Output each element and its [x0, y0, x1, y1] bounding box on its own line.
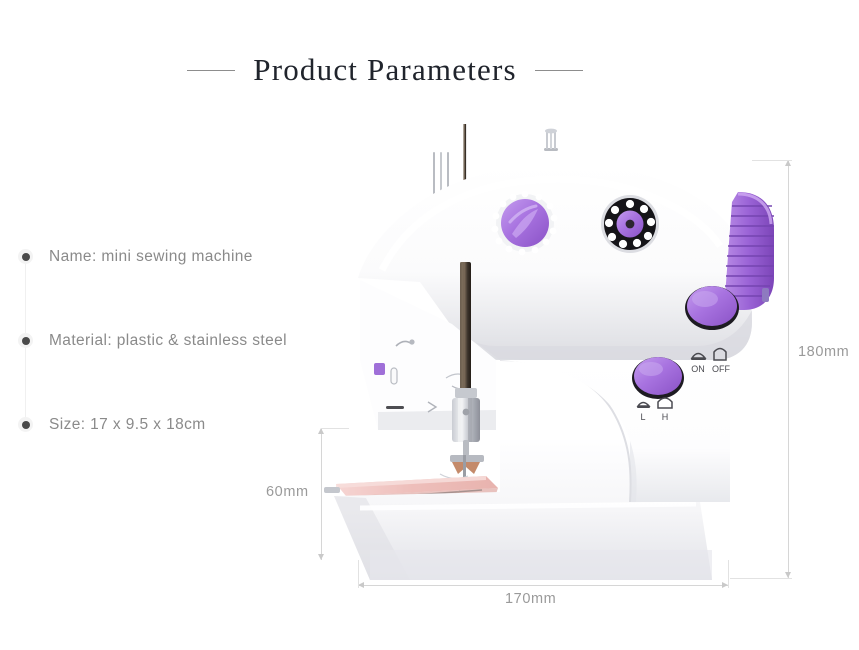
dimension-label-height-total: 180mm: [798, 344, 849, 360]
list-item: Material: plastic & stainless steel: [18, 332, 348, 416]
dimension-tick-top-right: [752, 160, 792, 161]
title-rule-right: [535, 70, 583, 71]
svg-text:H: H: [662, 412, 669, 422]
speed-button[interactable]: [632, 357, 684, 399]
bullet-dot-icon: [18, 417, 33, 432]
list-item: Name: mini sewing machine: [18, 248, 348, 332]
dimension-tick-left-bottom: [358, 560, 359, 588]
spec-material-value: Material: plastic & stainless steel: [49, 332, 287, 349]
product-image: ON OFF L H: [300, 110, 780, 590]
dimension-tick-top-middle: [321, 428, 349, 429]
base-front-shade: [370, 550, 712, 580]
dimension-line-width-total: [358, 585, 728, 586]
spec-name-value: Name: mini sewing machine: [49, 248, 253, 265]
balance-wheel[interactable]: [601, 195, 659, 253]
bullet-dot-icon: [18, 249, 33, 264]
dimension-label-height-base: 60mm: [266, 484, 309, 500]
page-title-block: Product Parameters: [0, 52, 770, 88]
spec-list: Name: mini sewing machine Material: plas…: [18, 248, 348, 500]
spec-size-value: Size: 17 x 9.5 x 18cm: [49, 416, 206, 433]
dimension-tick-right-bottom: [728, 560, 729, 588]
dimension-label-width-total: 170mm: [505, 591, 556, 607]
svg-text:OFF: OFF: [712, 364, 730, 374]
presser-foot: [440, 455, 484, 479]
dimension-tick-bottom-right: [730, 578, 792, 579]
title-rule-left: [187, 70, 235, 71]
dimension-line-height-total: [788, 160, 789, 578]
svg-text:L: L: [640, 412, 645, 422]
power-button[interactable]: [685, 286, 739, 330]
spool-holder-icon: [544, 129, 558, 151]
side-tab: [762, 288, 769, 302]
product-parameters-page: Product Parameters Name: mini sewing mac…: [0, 0, 859, 650]
svg-text:ON: ON: [691, 364, 705, 374]
bullet-dot-icon: [18, 333, 33, 348]
page-title: Product Parameters: [253, 52, 517, 88]
dimension-line-height-base: [321, 428, 322, 560]
